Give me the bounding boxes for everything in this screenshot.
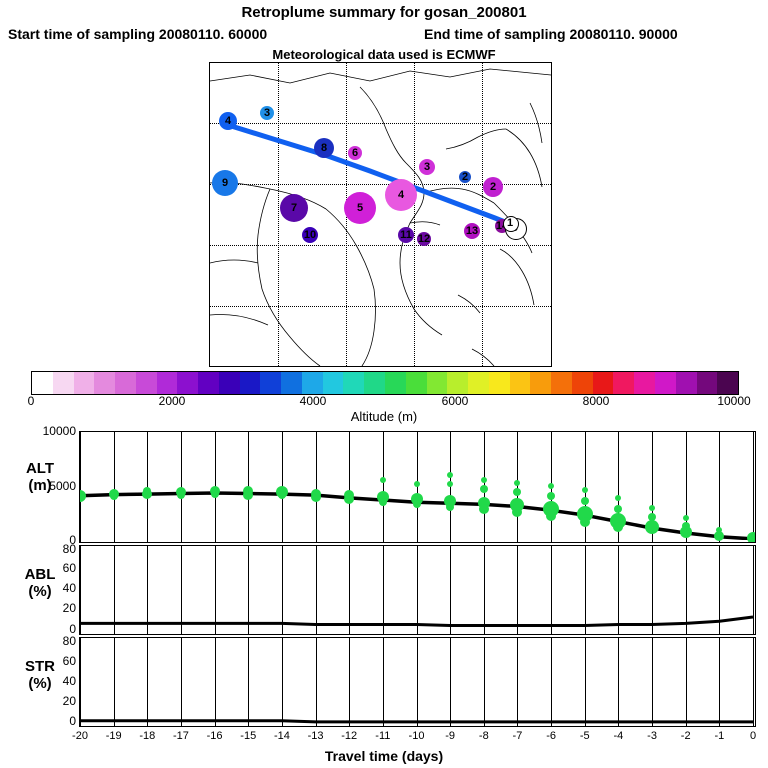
plume-blob-label: 3	[264, 107, 270, 119]
x-axis-tick-label: -15	[240, 730, 256, 742]
alt-data-point	[514, 480, 520, 486]
x-axis-tick-label: -19	[106, 730, 122, 742]
plume-blob-label: 7	[291, 202, 297, 214]
alt-data-point	[479, 504, 489, 514]
colorbar-segment	[198, 372, 219, 394]
alt-axis-name: ALT (m)	[8, 460, 72, 494]
colorbar-segment	[655, 372, 676, 394]
alt-data-point	[547, 492, 555, 500]
colorbar-tick-labels: 0 2000 4000 6000 8000 10000	[31, 394, 737, 408]
met-data-label: Meteorological data used is ECMWF	[0, 47, 768, 62]
abl-line	[80, 546, 753, 632]
alt-data-point	[446, 503, 454, 511]
alt-data-point	[447, 472, 453, 478]
colorbar-tick: 4000	[300, 394, 327, 408]
alt-data-point	[243, 490, 253, 500]
alt-data-point	[142, 489, 152, 499]
str-axis-name-line1: STR	[8, 658, 72, 675]
plume-blob-label: 4	[225, 115, 231, 127]
colorbar-segment	[94, 372, 115, 394]
altitude-colorbar	[31, 371, 739, 395]
x-axis-tick-label: -8	[479, 730, 489, 742]
colorbar-caption: Altitude (m)	[0, 409, 768, 424]
colorbar-segment	[157, 372, 178, 394]
x-axis-tick-label: -7	[513, 730, 523, 742]
panel-gridline	[753, 546, 754, 634]
alt-data-point	[649, 505, 655, 511]
alt-data-point	[714, 531, 724, 541]
x-axis-tick-label: -2	[681, 730, 691, 742]
plume-blob-label: 3	[424, 161, 430, 173]
x-axis-tick-label: -13	[308, 730, 324, 742]
colorbar-segment	[281, 372, 302, 394]
colorbar-segment	[74, 372, 95, 394]
str-ytick: 0	[34, 714, 76, 728]
alt-data-point	[110, 492, 118, 500]
alt-data-point	[581, 497, 589, 505]
abl-axis-name: ABL (%)	[8, 566, 72, 600]
str-axis-name: STR (%)	[8, 658, 72, 692]
colorbar-segment	[219, 372, 240, 394]
alt-data-point	[680, 526, 692, 538]
x-axis-tick-label: -10	[409, 730, 425, 742]
colorbar-segment	[115, 372, 136, 394]
x-axis-tick-label: -11	[375, 730, 390, 742]
alt-axis-name-line2: (m)	[8, 477, 72, 494]
colorbar-segment	[530, 372, 551, 394]
x-axis-tick-label: -5	[580, 730, 590, 742]
abl-ytick: 80	[34, 542, 76, 556]
alt-data-point	[548, 483, 554, 489]
alt-data-point	[513, 488, 521, 496]
colorbar-segment	[572, 372, 593, 394]
colorbar-tick: 10000	[717, 394, 750, 408]
abl-chart-panel	[79, 545, 756, 635]
alt-data-point	[177, 491, 185, 499]
x-axis-tick-label: -12	[341, 730, 357, 742]
colorbar-tick: 0	[28, 394, 35, 408]
colorbar-segment	[489, 372, 510, 394]
start-time-label: Start time of sampling 20080110. 60000	[8, 26, 267, 42]
alt-data-point	[447, 481, 453, 487]
colorbar-segment	[32, 372, 53, 394]
abl-axis-name-line2: (%)	[8, 583, 72, 600]
alt-data-point	[512, 507, 522, 517]
colorbar-segment	[177, 372, 198, 394]
plume-blob-label: 5	[357, 202, 363, 214]
str-ytick: 80	[34, 634, 76, 648]
alt-axis-name-line1: ALT	[8, 460, 72, 477]
colorbar-segment	[468, 372, 489, 394]
x-axis-title: Travel time (days)	[0, 748, 768, 764]
alt-data-point	[747, 532, 756, 543]
x-axis-ticks: -20-19-18-17-16-15-14-13-12-11-10-9-8-7-…	[0, 730, 768, 746]
colorbar-segment	[240, 372, 261, 394]
alt-data-point	[582, 487, 588, 493]
plume-blob-label: 11	[400, 229, 412, 241]
alt-scatter-dots	[80, 432, 755, 542]
alt-data-point	[278, 491, 286, 499]
x-axis-tick-label: -6	[546, 730, 556, 742]
colorbar-segment	[717, 372, 738, 394]
plume-blob-layer: 43896754322101112131401	[210, 63, 551, 366]
alt-data-point	[613, 522, 623, 532]
colorbar-tick: 6000	[442, 394, 469, 408]
colorbar-tick: 8000	[583, 394, 610, 408]
plume-blob-label: 8	[321, 142, 327, 154]
alt-data-point	[380, 477, 386, 483]
alt-ytick: 10000	[34, 424, 76, 438]
alt-data-point	[480, 485, 488, 493]
plume-blob-label: 9	[222, 177, 228, 189]
page-title: Retroplume summary for gosan_200801	[0, 4, 768, 21]
alt-data-point	[344, 494, 354, 504]
str-line	[80, 638, 753, 724]
alt-data-point	[379, 498, 387, 506]
plume-blob-label: 4	[398, 189, 404, 201]
end-time-label: End time of sampling 20080110. 90000	[424, 26, 678, 42]
x-axis-tick-label: -9	[445, 730, 455, 742]
colorbar-segment	[447, 372, 468, 394]
x-axis-tick-label: 0	[750, 730, 756, 742]
x-axis-tick-label: -17	[173, 730, 189, 742]
map-panel: 43896754322101112131401	[209, 62, 552, 367]
x-axis-tick-label: -1	[714, 730, 724, 742]
alt-data-point	[614, 505, 622, 513]
colorbar-segment	[613, 372, 634, 394]
colorbar-segment	[53, 372, 74, 394]
colorbar-segment	[260, 372, 281, 394]
x-axis-tick-label: -3	[647, 730, 657, 742]
panel-gridline	[753, 638, 754, 726]
colorbar-segment	[323, 372, 344, 394]
alt-chart-panel	[79, 431, 756, 543]
alt-data-point	[615, 495, 621, 501]
str-ytick: 20	[34, 694, 76, 708]
x-axis-tick-label: -20	[72, 730, 88, 742]
plume-blob-label: 10	[304, 229, 316, 241]
plume-blob-label: 12	[418, 233, 430, 245]
alt-data-point	[414, 481, 420, 487]
colorbar-segment	[510, 372, 531, 394]
colorbar-segment	[302, 372, 323, 394]
alt-data-point	[580, 517, 590, 527]
colorbar-segment	[551, 372, 572, 394]
x-axis-tick-label: -4	[614, 730, 624, 742]
plume-blob-label: 1	[507, 217, 513, 229]
alt-data-point	[546, 511, 556, 521]
colorbar-segment	[385, 372, 406, 394]
colorbar-segment	[364, 372, 385, 394]
alt-data-point	[79, 490, 86, 502]
colorbar-segment	[406, 372, 427, 394]
x-axis-tick-label: -18	[139, 730, 155, 742]
colorbar-segment	[427, 372, 448, 394]
alt-data-point	[481, 477, 487, 483]
colorbar-segment	[697, 372, 718, 394]
abl-axis-name-line1: ABL	[8, 566, 72, 583]
alt-data-point	[311, 492, 321, 502]
alt-data-point	[683, 515, 689, 521]
str-axis-name-line2: (%)	[8, 675, 72, 692]
colorbar-segment	[136, 372, 157, 394]
plume-blob-label: 2	[462, 171, 468, 183]
colorbar-segment	[343, 372, 364, 394]
x-axis-tick-label: -16	[207, 730, 223, 742]
alt-data-point	[211, 490, 219, 498]
colorbar-segment	[634, 372, 655, 394]
plume-blob-label: 2	[490, 181, 496, 193]
plume-blob-label: 13	[466, 225, 478, 237]
alt-data-point	[645, 520, 659, 534]
str-chart-panel	[79, 637, 756, 727]
abl-ytick: 20	[34, 601, 76, 615]
x-axis-tick-label: -14	[274, 730, 290, 742]
colorbar-segment	[593, 372, 614, 394]
alt-data-point	[413, 500, 421, 508]
colorbar-tick: 2000	[159, 394, 186, 408]
colorbar-segment	[676, 372, 697, 394]
plume-blob-label: 6	[352, 147, 358, 159]
